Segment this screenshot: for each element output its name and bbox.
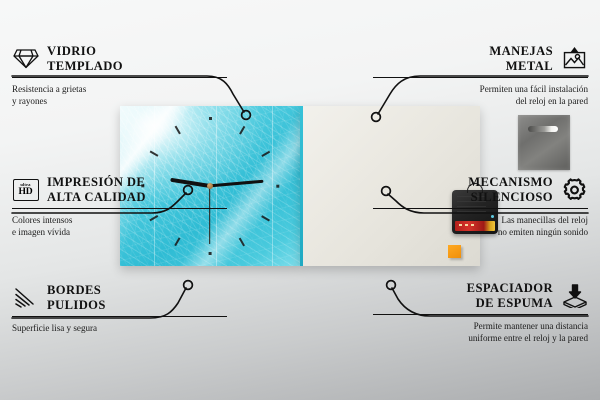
feature-manejas-metal: MANEJAS METAL Permiten una fácil instala… — [373, 44, 588, 107]
feature-mecanismo-silencioso: MECANISMO SILENCIOSO Las manecillas del … — [373, 175, 588, 238]
infographic-stage: VIDRIO TEMPLADO Resistencia a grietas y … — [0, 0, 600, 400]
feature-desc: y rayones — [12, 95, 227, 107]
feature-desc: uniforme entre el reloj y la pared — [373, 332, 588, 344]
feature-impresion-alta-calidad: ultra HD IMPRESIÓN DE ALTA CALIDAD Color… — [12, 175, 227, 238]
divider — [373, 77, 588, 78]
callout-endpoint-manejas — [372, 113, 381, 122]
feature-title: MECANISMO — [468, 175, 553, 190]
ultra-hd-icon: ultra HD — [12, 177, 39, 202]
feature-espaciador-espuma: ESPACIADOR DE ESPUMA Permite mantener un… — [373, 281, 588, 344]
wall-hanging-frame-icon — [561, 46, 588, 71]
feature-title: METAL — [489, 59, 553, 74]
feature-desc: del reloj en la pared — [373, 95, 588, 107]
feature-desc: Permite mantener una distancia — [373, 320, 588, 332]
feature-title: ESPACIADOR — [467, 281, 553, 296]
feature-desc: Las manecillas del reloj — [373, 214, 588, 226]
feature-desc: Resistencia a grietas — [12, 83, 227, 95]
feature-title: BORDES — [47, 283, 106, 298]
feature-desc: Superficie lisa y segura — [12, 322, 227, 334]
polished-edges-icon — [12, 285, 39, 310]
feature-title: ALTA CALIDAD — [47, 190, 146, 205]
feature-title: DE ESPUMA — [467, 296, 553, 311]
feature-title: SILENCIOSO — [468, 190, 553, 205]
feature-desc: no emiten ningún sonido — [373, 226, 588, 238]
feature-vidrio-templado: VIDRIO TEMPLADO Resistencia a grietas y … — [12, 44, 227, 107]
divider — [12, 208, 227, 209]
feature-bordes-pulidos: BORDES PULIDOS Superficie lisa y segura — [12, 283, 227, 334]
feature-desc: e imagen vívida — [12, 226, 227, 238]
feature-title: IMPRESIÓN DE — [47, 175, 146, 190]
foam-spacer-arrow-icon — [561, 283, 588, 308]
feature-title: TEMPLADO — [47, 59, 123, 74]
feature-title: VIDRIO — [47, 44, 123, 59]
callout-endpoint-vidrio — [242, 111, 251, 120]
feature-desc: Permiten una fácil instalación — [373, 83, 588, 95]
gear-icon — [561, 177, 588, 202]
feature-desc: Colores intensos — [12, 214, 227, 226]
divider — [373, 314, 588, 315]
ultra-hd-large-text: HD — [19, 187, 33, 197]
divider — [373, 208, 588, 209]
divider — [12, 77, 227, 78]
divider — [12, 316, 227, 317]
feature-title: MANEJAS — [489, 44, 553, 59]
diamond-icon — [12, 46, 39, 71]
feature-title: PULIDOS — [47, 298, 106, 313]
